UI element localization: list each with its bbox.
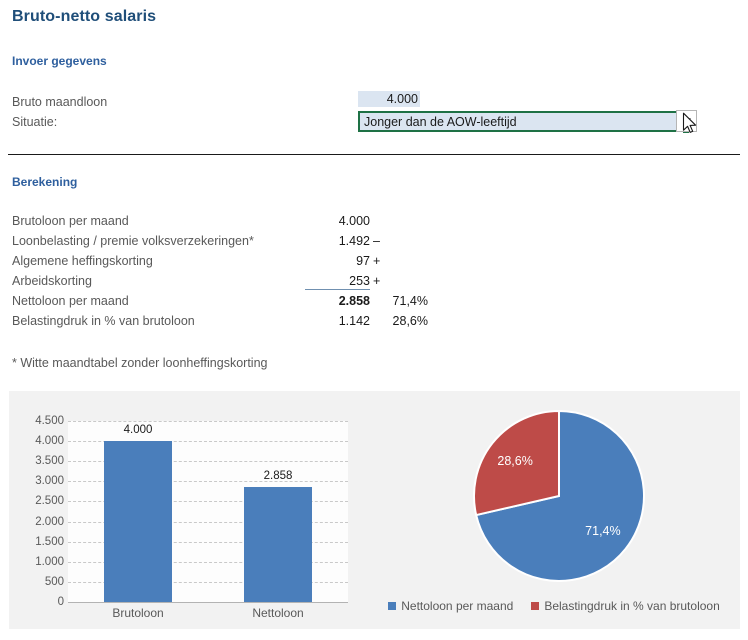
calculation-table: Brutoloon per maand 4.000 Loonbelasting … xyxy=(12,214,432,334)
row-amount: 253 xyxy=(305,274,370,290)
gridline xyxy=(68,421,348,422)
situatie-selected-value: Jonger dan de AOW-leeftijd xyxy=(364,115,517,130)
label-situatie: Situatie: xyxy=(12,115,57,129)
table-row: Algemene heffingskorting 97 + xyxy=(12,254,432,274)
row-label: Belastingdruk in % van brutoloon xyxy=(12,314,195,328)
table-row: Arbeidskorting 253 + xyxy=(12,274,432,294)
page-title: Bruto-netto salaris xyxy=(12,8,156,26)
table-row: Belastingdruk in % van brutoloon 1.142 2… xyxy=(12,314,432,334)
pie-graphic xyxy=(473,410,645,582)
pie-slice-label: 71,4% xyxy=(585,524,620,538)
chevron-down-icon xyxy=(683,118,691,123)
charts-area: 4.5004.0003.5003.0002.5002.0001.5001.000… xyxy=(9,391,740,629)
row-label: Brutoloon per maand xyxy=(12,214,129,228)
section-divider xyxy=(8,154,740,155)
row-percent: 28,6% xyxy=(380,314,428,328)
y-axis-tick-label: 4.000 xyxy=(12,435,64,447)
bruto-maandloon-input[interactable]: 4.000 xyxy=(358,91,420,107)
bar-chart[interactable]: 4.5004.0003.5003.0002.5002.0001.5001.000… xyxy=(9,391,368,629)
pie-chart[interactable]: 71,4%28,6% Nettoloon per maandBelastingd… xyxy=(368,391,740,629)
calculation-footnote: * Witte maandtabel zonder loonheffingsko… xyxy=(12,356,267,370)
row-amount: 97 xyxy=(305,254,370,268)
bar-axis-line xyxy=(68,602,348,603)
y-axis-tick-label: 500 xyxy=(12,576,64,588)
section-heading-calculation: Berekening xyxy=(12,175,77,189)
x-axis-tick-label: Brutoloon xyxy=(112,606,163,620)
row-label: Arbeidskorting xyxy=(12,274,92,288)
y-axis-tick-label: 3.500 xyxy=(12,455,64,467)
y-axis-tick-label: 4.500 xyxy=(12,415,64,427)
y-axis-tick-label: 0 xyxy=(12,596,64,608)
bar[interactable] xyxy=(244,487,312,602)
label-bruto-maandloon: Bruto maandloon xyxy=(12,95,107,109)
table-row: Loonbelasting / premie volksverzekeringe… xyxy=(12,234,432,254)
row-label: Algemene heffingskorting xyxy=(12,254,153,268)
pie-legend: Nettoloon per maandBelastingdruk in % va… xyxy=(368,599,740,613)
row-amount: 1.142 xyxy=(305,314,370,328)
y-axis-tick-label: 3.000 xyxy=(12,475,64,487)
situatie-dropdown-button[interactable] xyxy=(676,110,697,132)
spreadsheet-page: Bruto-netto salaris Invoer gegevens Brut… xyxy=(0,0,748,640)
x-axis-tick-label: Nettoloon xyxy=(252,606,303,620)
y-axis-tick-label: 2.500 xyxy=(12,495,64,507)
row-percent: 71,4% xyxy=(380,294,428,308)
row-label: Loonbelasting / premie volksverzekeringe… xyxy=(12,234,254,248)
legend-label: Nettoloon per maand xyxy=(401,599,513,613)
bar-y-axis-ticks: 4.5004.0003.5003.0002.5002.0001.5001.000… xyxy=(9,391,64,629)
row-amount: 1.492 xyxy=(305,234,370,248)
legend-swatch xyxy=(388,602,396,610)
bar-value-label: 2.858 xyxy=(264,470,293,482)
y-axis-tick-label: 1.500 xyxy=(12,536,64,548)
legend-swatch xyxy=(531,602,539,610)
y-axis-tick-label: 2.000 xyxy=(12,516,64,528)
row-sign: + xyxy=(373,274,383,288)
y-axis-tick-label: 1.000 xyxy=(12,556,64,568)
legend-entry[interactable]: Belastingdruk in % van brutoloon xyxy=(531,599,719,613)
bar-value-label: 4.000 xyxy=(124,424,153,436)
pie-slice-label: 28,6% xyxy=(497,454,532,468)
table-row: Brutoloon per maand 4.000 xyxy=(12,214,432,234)
row-amount: 4.000 xyxy=(305,214,370,228)
situatie-combobox[interactable]: Jonger dan de AOW-leeftijd xyxy=(358,111,688,132)
legend-label: Belastingdruk in % van brutoloon xyxy=(544,599,719,613)
table-row: Nettoloon per maand 2.858 71,4% xyxy=(12,294,432,314)
bar[interactable] xyxy=(104,441,172,602)
row-amount: 2.858 xyxy=(305,294,370,308)
legend-entry[interactable]: Nettoloon per maand xyxy=(388,599,513,613)
section-heading-input: Invoer gegevens xyxy=(12,54,107,68)
row-label: Nettoloon per maand xyxy=(12,294,129,308)
row-sign: + xyxy=(373,254,383,268)
row-sign: – xyxy=(373,234,383,248)
